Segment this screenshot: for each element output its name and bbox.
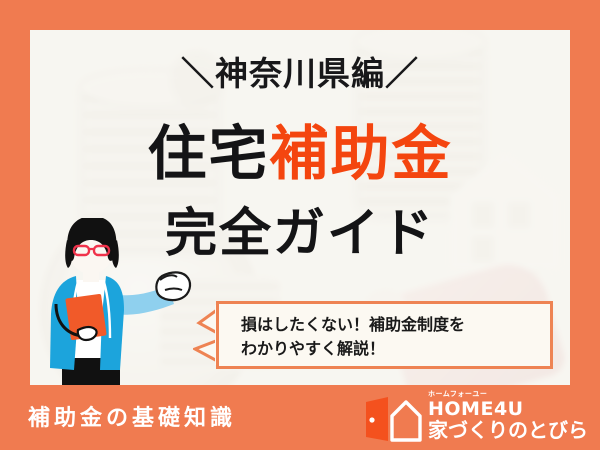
speech-bubble: 損はしたくない！補助金制度を わかりやすく解説！ <box>216 301 553 369</box>
kicker-text: ＼神奈川県編／ <box>0 47 600 95</box>
logo-text-group: ホームフォーユー HOME4U 家づくりのとびら <box>428 390 598 441</box>
title-black-part: 住宅 <box>147 119 269 188</box>
door-house-logo-icon <box>362 396 424 442</box>
bottom-bar-label: 補助金の基礎知識 <box>28 400 236 432</box>
logo-brand-name: HOME4U <box>428 399 598 419</box>
logo-block[interactable]: ホームフォーユー HOME4U 家づくりのとびら <box>362 392 592 444</box>
advisor-character-illustration <box>34 218 214 388</box>
banner-root: ＼神奈川県編／ 住宅補助金 完全ガイド 損はしたくない！補助金制度を わかりやす… <box>0 0 600 450</box>
speech-bubble-text: 損はしたくない！補助金制度を わかりやすく解説！ <box>241 313 541 361</box>
title-orange-part: 補助金 <box>270 119 453 188</box>
logo-tagline: 家づくりのとびら <box>428 419 598 441</box>
page-title: 住宅補助金 <box>0 124 600 183</box>
pointing-hand <box>156 272 190 300</box>
